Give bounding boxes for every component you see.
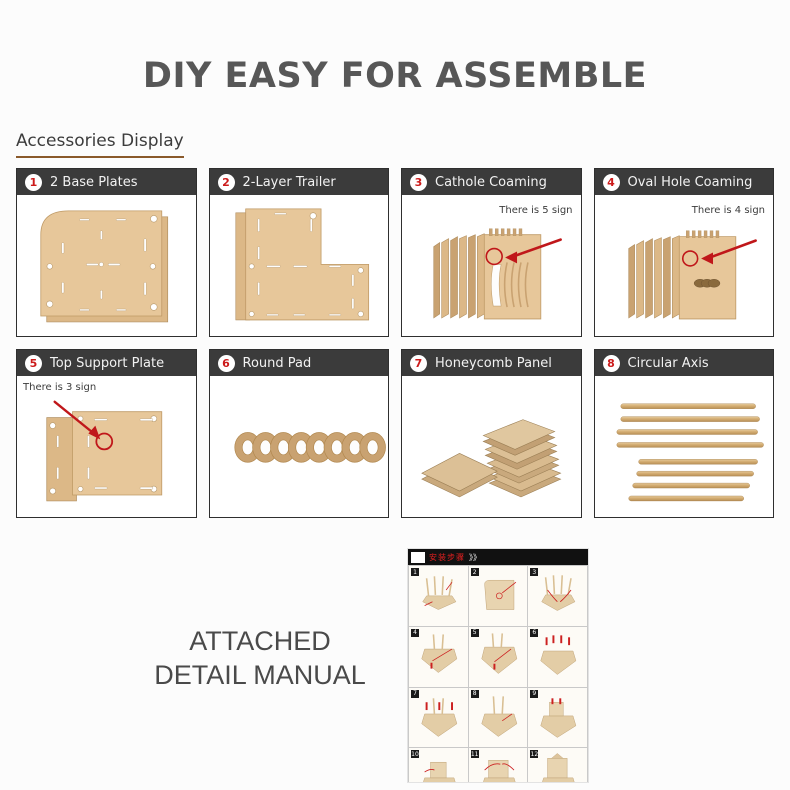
layer-trailer-illustration bbox=[210, 195, 388, 334]
top-support-plate-illustration bbox=[17, 376, 195, 515]
accessory-card-5[interactable]: 5 Top Support Plate There is 3 sign bbox=[16, 349, 197, 518]
manual-step-grid: 1 2 3 bbox=[408, 565, 588, 783]
card-header: 3 Cathole Coaming bbox=[402, 169, 581, 195]
card-body bbox=[210, 376, 389, 517]
card-number-badge: 5 bbox=[25, 355, 42, 372]
card-title: Top Support Plate bbox=[50, 356, 164, 371]
manual-section: ATTACHED DETAIL MANUAL 安装步骤 》》 1 2 bbox=[0, 540, 790, 790]
card-title: Honeycomb Panel bbox=[435, 356, 552, 371]
base-plates-illustration bbox=[17, 195, 195, 334]
manual-step: 8 bbox=[469, 688, 528, 748]
card-title: Cathole Coaming bbox=[435, 175, 547, 190]
manual-step: 1 bbox=[409, 566, 468, 626]
manual-header-bar: 安装步骤 》》 bbox=[408, 549, 588, 565]
manual-step: 7 bbox=[409, 688, 468, 748]
step-number-badge: 1 bbox=[411, 568, 419, 576]
manual-step: 11 bbox=[469, 748, 528, 783]
card-body bbox=[17, 195, 196, 336]
card-header: 2 2-Layer Trailer bbox=[210, 169, 389, 195]
card-number-badge: 2 bbox=[218, 174, 235, 191]
card-title: Circular Axis bbox=[628, 356, 709, 371]
attached-caption-line1: ATTACHED bbox=[120, 625, 400, 659]
card-header: 8 Circular Axis bbox=[595, 350, 774, 376]
step-number-badge: 7 bbox=[411, 690, 419, 698]
section-header-label: Accessories Display bbox=[16, 131, 184, 156]
card-number-badge: 1 bbox=[25, 174, 42, 191]
step-number-badge: 9 bbox=[530, 690, 538, 698]
card-body bbox=[210, 195, 389, 336]
manual-step: 2 bbox=[469, 566, 528, 626]
step-number-badge: 5 bbox=[471, 629, 479, 637]
card-header: 5 Top Support Plate bbox=[17, 350, 196, 376]
manual-header-block bbox=[411, 552, 425, 563]
step-number-badge: 3 bbox=[530, 568, 538, 576]
honeycomb-panel-illustration bbox=[402, 376, 580, 515]
step-number-badge: 4 bbox=[411, 629, 419, 637]
attached-caption-line2: DETAIL MANUAL bbox=[120, 659, 400, 693]
card-number-badge: 4 bbox=[603, 174, 620, 191]
section-header-rule bbox=[16, 156, 184, 158]
accessory-card-6[interactable]: 6 Round Pad bbox=[209, 349, 390, 518]
card-body: There is 4 sign bbox=[595, 195, 774, 336]
card-body: There is 3 sign bbox=[17, 376, 196, 517]
card-title: Round Pad bbox=[243, 356, 312, 371]
manual-step: 12 bbox=[528, 748, 587, 783]
manual-step: 10 bbox=[409, 748, 468, 783]
manual-step: 5 bbox=[469, 627, 528, 687]
step-number-badge: 8 bbox=[471, 690, 479, 698]
page-title: DIY EASY FOR ASSEMBLE bbox=[0, 0, 790, 96]
accessories-grid: 1 2 Base Plates bbox=[16, 168, 774, 518]
card-body: There is 5 sign bbox=[402, 195, 581, 336]
manual-step: 6 bbox=[528, 627, 587, 687]
accessory-card-2[interactable]: 2 2-Layer Trailer bbox=[209, 168, 390, 337]
card-header: 6 Round Pad bbox=[210, 350, 389, 376]
accessory-card-7[interactable]: 7 Honeycomb Panel bbox=[401, 349, 582, 518]
step-number-badge: 2 bbox=[471, 568, 479, 576]
accessory-card-1[interactable]: 1 2 Base Plates bbox=[16, 168, 197, 337]
instruction-manual-image[interactable]: 安装步骤 》》 1 2 bbox=[407, 548, 589, 783]
card-body bbox=[402, 376, 581, 517]
manual-step: 3 bbox=[528, 566, 587, 626]
card-title: 2 Base Plates bbox=[50, 175, 137, 190]
card-number-badge: 6 bbox=[218, 355, 235, 372]
step-number-badge: 12 bbox=[530, 750, 538, 758]
accessory-card-8[interactable]: 8 Circular Axis bbox=[594, 349, 775, 518]
card-header: 4 Oval Hole Coaming bbox=[595, 169, 774, 195]
round-pad-illustration bbox=[210, 376, 388, 515]
step-number-badge: 10 bbox=[411, 750, 419, 758]
step-number-badge: 6 bbox=[530, 629, 538, 637]
card-number-badge: 8 bbox=[603, 355, 620, 372]
step-number-badge: 11 bbox=[471, 750, 479, 758]
manual-step: 9 bbox=[528, 688, 587, 748]
accessory-card-4[interactable]: 4 Oval Hole Coaming There is 4 sign bbox=[594, 168, 775, 337]
chevron-right-icon: 》》 bbox=[469, 552, 481, 563]
card-title: 2-Layer Trailer bbox=[243, 175, 336, 190]
card-number-badge: 3 bbox=[410, 174, 427, 191]
card-title: Oval Hole Coaming bbox=[628, 175, 753, 190]
oval-hole-coaming-illustration bbox=[595, 195, 773, 334]
manual-step: 4 bbox=[409, 627, 468, 687]
card-header: 7 Honeycomb Panel bbox=[402, 350, 581, 376]
accessory-card-3[interactable]: 3 Cathole Coaming There is 5 sign bbox=[401, 168, 582, 337]
attached-manual-caption: ATTACHED DETAIL MANUAL bbox=[120, 625, 400, 693]
card-body bbox=[595, 376, 774, 517]
card-header: 1 2 Base Plates bbox=[17, 169, 196, 195]
card-number-badge: 7 bbox=[410, 355, 427, 372]
manual-header-title: 安装步骤 bbox=[429, 552, 465, 563]
section-header: Accessories Display bbox=[16, 131, 184, 158]
cathole-coaming-illustration bbox=[402, 195, 580, 334]
circular-axis-illustration bbox=[595, 376, 773, 515]
